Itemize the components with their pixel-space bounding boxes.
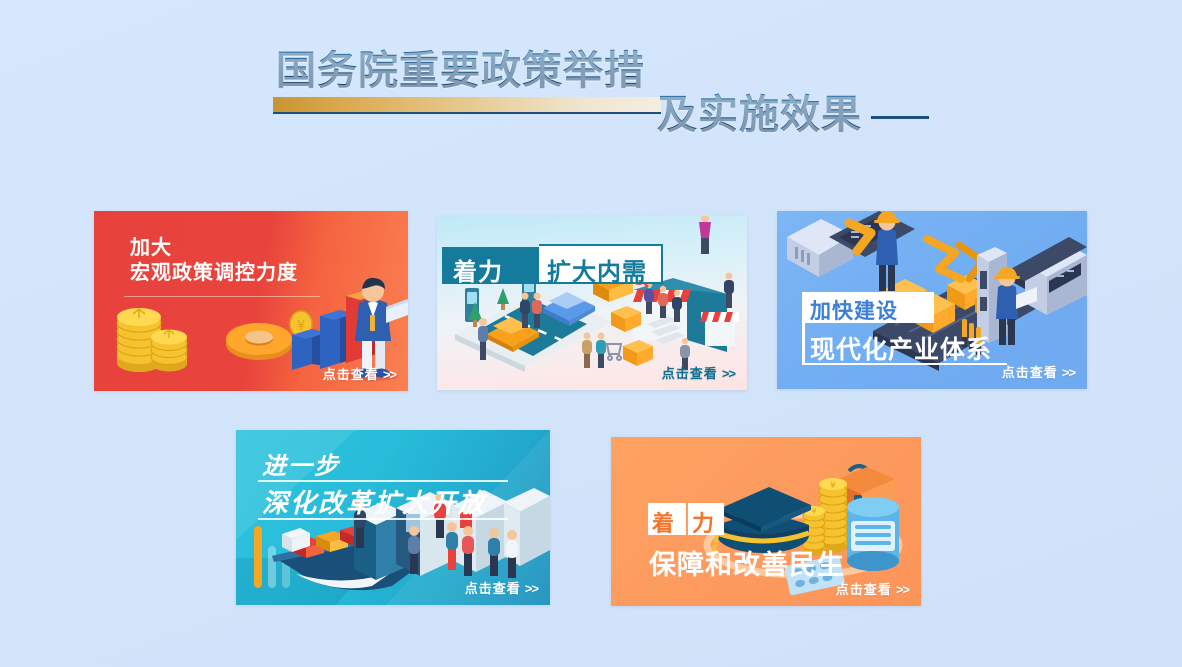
card1-headline-line-2: 宏观政策调控力度 [130, 256, 298, 285]
card4-cta-arrow-icon: >> [525, 581, 538, 596]
card4-divider-bottom [258, 518, 508, 520]
card5-headline-tag-1: 着 [652, 506, 675, 538]
page-title-line-2: 及实施效果 [657, 92, 862, 138]
card5-headline-tag-2: 力 [692, 506, 715, 538]
card3-headline-line-1: 加快建设 [810, 295, 898, 325]
card4-cta-label: 点击查看 [465, 581, 521, 596]
expand-domestic-demand-card[interactable]: 着力 扩大内需 点击查看>> [437, 216, 747, 390]
card5-cta[interactable]: 点击查看>> [836, 579, 909, 598]
card3-cta[interactable]: 点击查看>> [1002, 362, 1075, 381]
card5-headline-main: 保障和改善民生 [649, 543, 845, 582]
card2-cta-arrow-icon: >> [722, 366, 735, 381]
card4-cta[interactable]: 点击查看>> [465, 578, 538, 597]
card2-cta[interactable]: 点击查看>> [662, 363, 735, 382]
card3-headline-line-2: 现代化产业体系 [810, 330, 992, 366]
macro-policy-card[interactable]: ¥ [94, 211, 408, 391]
page-header: 国务院重要政策举措 及实施效果 [0, 48, 1182, 158]
page-title: 国务院重要政策举措 及实施效果 [273, 48, 953, 158]
modern-industrial-system-card[interactable]: 加快建设 现代化产业体系 点击查看>> [777, 211, 1087, 389]
card4-divider-top [258, 480, 508, 482]
card2-headline-tag: 着力 [453, 252, 503, 287]
card1-cta-arrow-icon: >> [383, 367, 396, 382]
improve-livelihood-card[interactable]: ¥ ¥ [611, 437, 921, 606]
card1-divider [124, 296, 320, 297]
svg-text:¥: ¥ [811, 507, 816, 516]
page-title-line-1: 国务院重要政策举措 [276, 48, 645, 94]
deepen-reform-opening-card[interactable]: 进一步 深化改革扩大开放 点击查看>> [236, 430, 550, 605]
card5-cta-label: 点击查看 [836, 582, 892, 597]
card1-cta-label: 点击查看 [323, 367, 379, 382]
card3-cta-label: 点击查看 [1002, 365, 1058, 380]
card2-headline-main: 扩大内需 [547, 252, 647, 287]
card4-headline-line-2: 深化改革扩大开放 [262, 483, 486, 520]
svg-text:¥: ¥ [830, 481, 836, 491]
title-blue-underline [273, 112, 661, 114]
card2-cta-label: 点击查看 [662, 366, 718, 381]
card1-cta[interactable]: 点击查看>> [323, 364, 396, 383]
title-gold-gradient-rule [273, 97, 661, 112]
card4-headline-line-1: 进一步 [262, 446, 340, 481]
card3-cta-arrow-icon: >> [1062, 365, 1075, 380]
card5-cta-arrow-icon: >> [896, 582, 909, 597]
title-trailing-dash [871, 116, 929, 119]
